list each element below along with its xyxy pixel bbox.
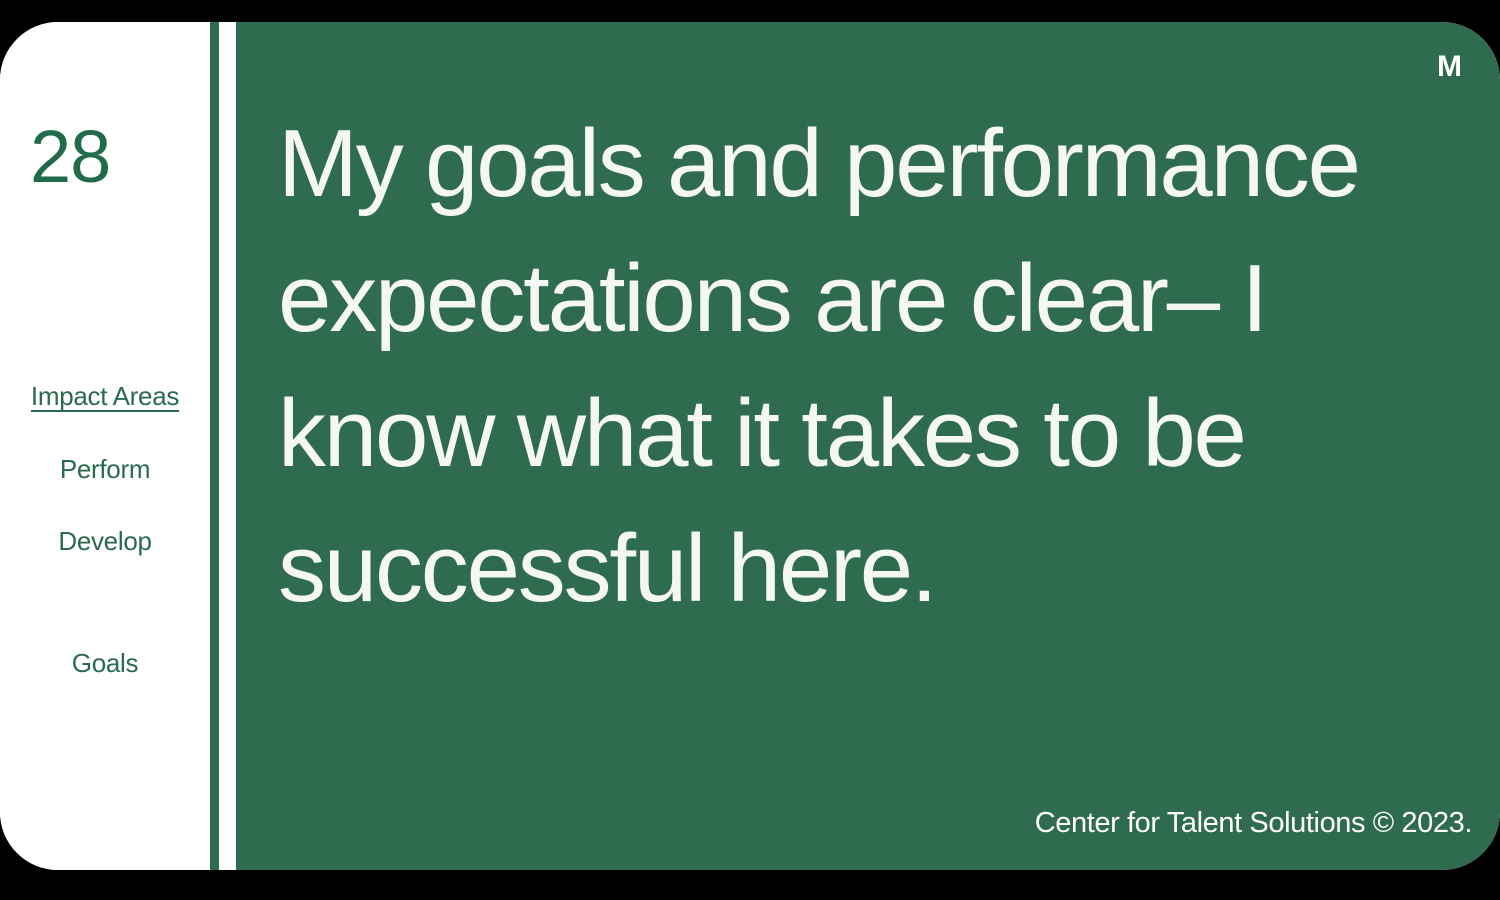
sidebar-nav: Impact Areas Perform Develop Goals bbox=[0, 382, 210, 679]
headline-statement: My goals and performance expectations ar… bbox=[278, 96, 1492, 636]
sidebar-item-goals[interactable]: Goals bbox=[8, 649, 202, 679]
brand-m-logo-icon: M bbox=[1437, 52, 1462, 82]
sidebar-item-perform[interactable]: Perform bbox=[8, 455, 202, 485]
sidebar: 28 Impact Areas Perform Develop Goals bbox=[0, 22, 210, 870]
slide-number: 28 bbox=[30, 120, 110, 194]
sidebar-divider bbox=[210, 22, 236, 870]
divider-bar bbox=[210, 22, 219, 870]
footer-copyright: Center for Talent Solutions © 2023. bbox=[1035, 808, 1472, 840]
sidebar-item-impact-areas[interactable]: Impact Areas bbox=[8, 382, 202, 412]
sidebar-item-develop[interactable]: Develop bbox=[8, 527, 202, 557]
slide-card: 28 Impact Areas Perform Develop Goals M … bbox=[0, 22, 1500, 870]
main-panel: M My goals and performance expectations … bbox=[236, 22, 1500, 870]
